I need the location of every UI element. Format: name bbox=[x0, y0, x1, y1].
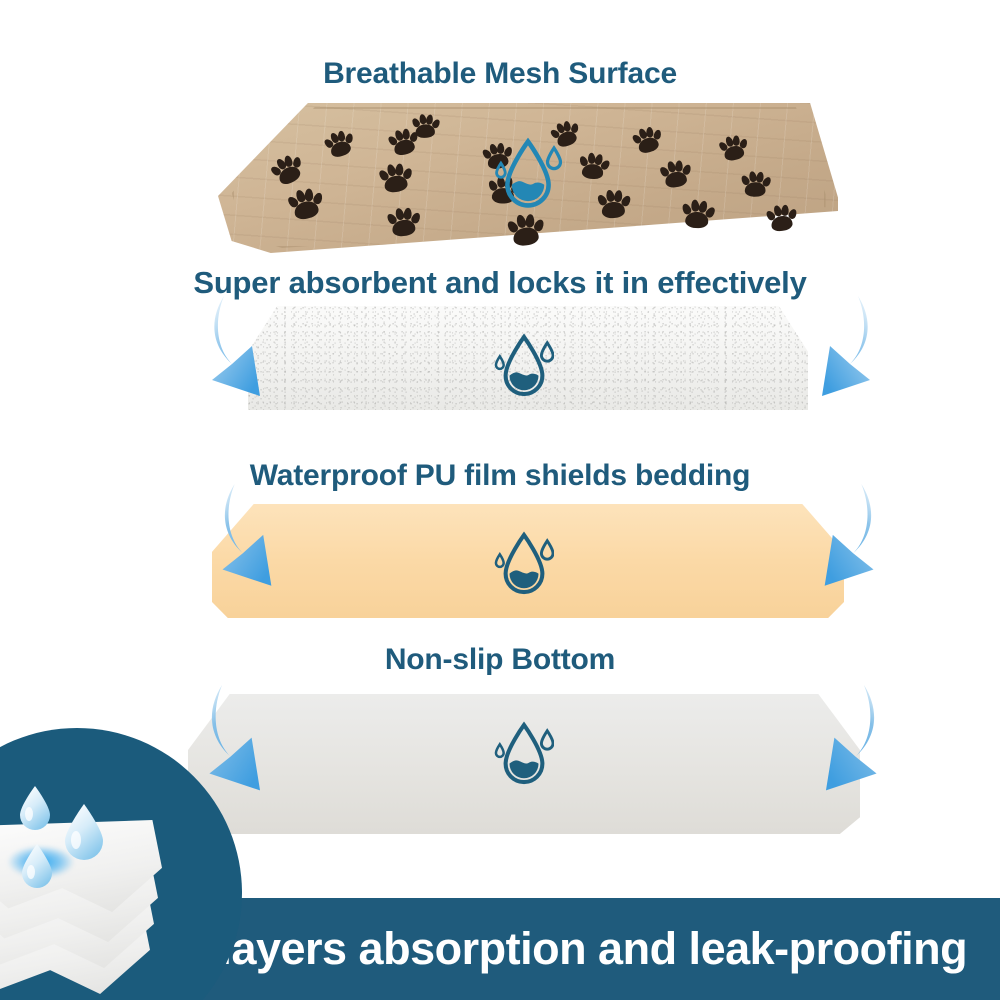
paw-print-icon bbox=[505, 212, 544, 248]
water-drop-icon bbox=[494, 719, 554, 789]
paw-print-icon bbox=[717, 133, 750, 163]
paw-print-icon bbox=[764, 203, 797, 234]
curved-down-arrow-icon bbox=[786, 296, 896, 408]
paw-print-icon bbox=[739, 170, 771, 200]
paw-print-icon bbox=[678, 197, 716, 232]
infographic-canvas: Breathable Mesh Surface bbox=[0, 0, 1000, 1000]
paw-print-icon bbox=[658, 159, 692, 191]
layer-4-title: Non-slip Bottom bbox=[0, 643, 1000, 677]
paw-print-icon bbox=[410, 113, 440, 140]
curved-down-arrow-icon bbox=[788, 484, 900, 598]
water-drop-icon bbox=[494, 135, 562, 213]
paw-print-icon bbox=[285, 186, 325, 223]
water-drop-icon bbox=[494, 529, 554, 599]
paw-print-icon bbox=[377, 162, 413, 195]
stacked-pads-with-droplets-icon bbox=[0, 780, 196, 1000]
water-drop-icon bbox=[494, 331, 554, 401]
curved-down-arrow-icon bbox=[196, 484, 308, 598]
layer-3-title: Waterproof PU film shields bedding bbox=[0, 459, 1000, 493]
paw-print-icon bbox=[575, 150, 611, 184]
falling-droplet-icon bbox=[18, 784, 52, 830]
paw-print-icon bbox=[385, 206, 420, 238]
paw-print-icon bbox=[595, 188, 630, 220]
layer-1-title: Breathable Mesh Surface bbox=[0, 57, 1000, 91]
curved-down-arrow-icon bbox=[186, 296, 296, 408]
curved-down-arrow-icon bbox=[788, 682, 904, 806]
layer-2-title: Super absorbent and locks it in effectiv… bbox=[0, 265, 1000, 301]
falling-droplet-icon bbox=[20, 842, 54, 888]
falling-droplet-icon bbox=[62, 802, 106, 860]
